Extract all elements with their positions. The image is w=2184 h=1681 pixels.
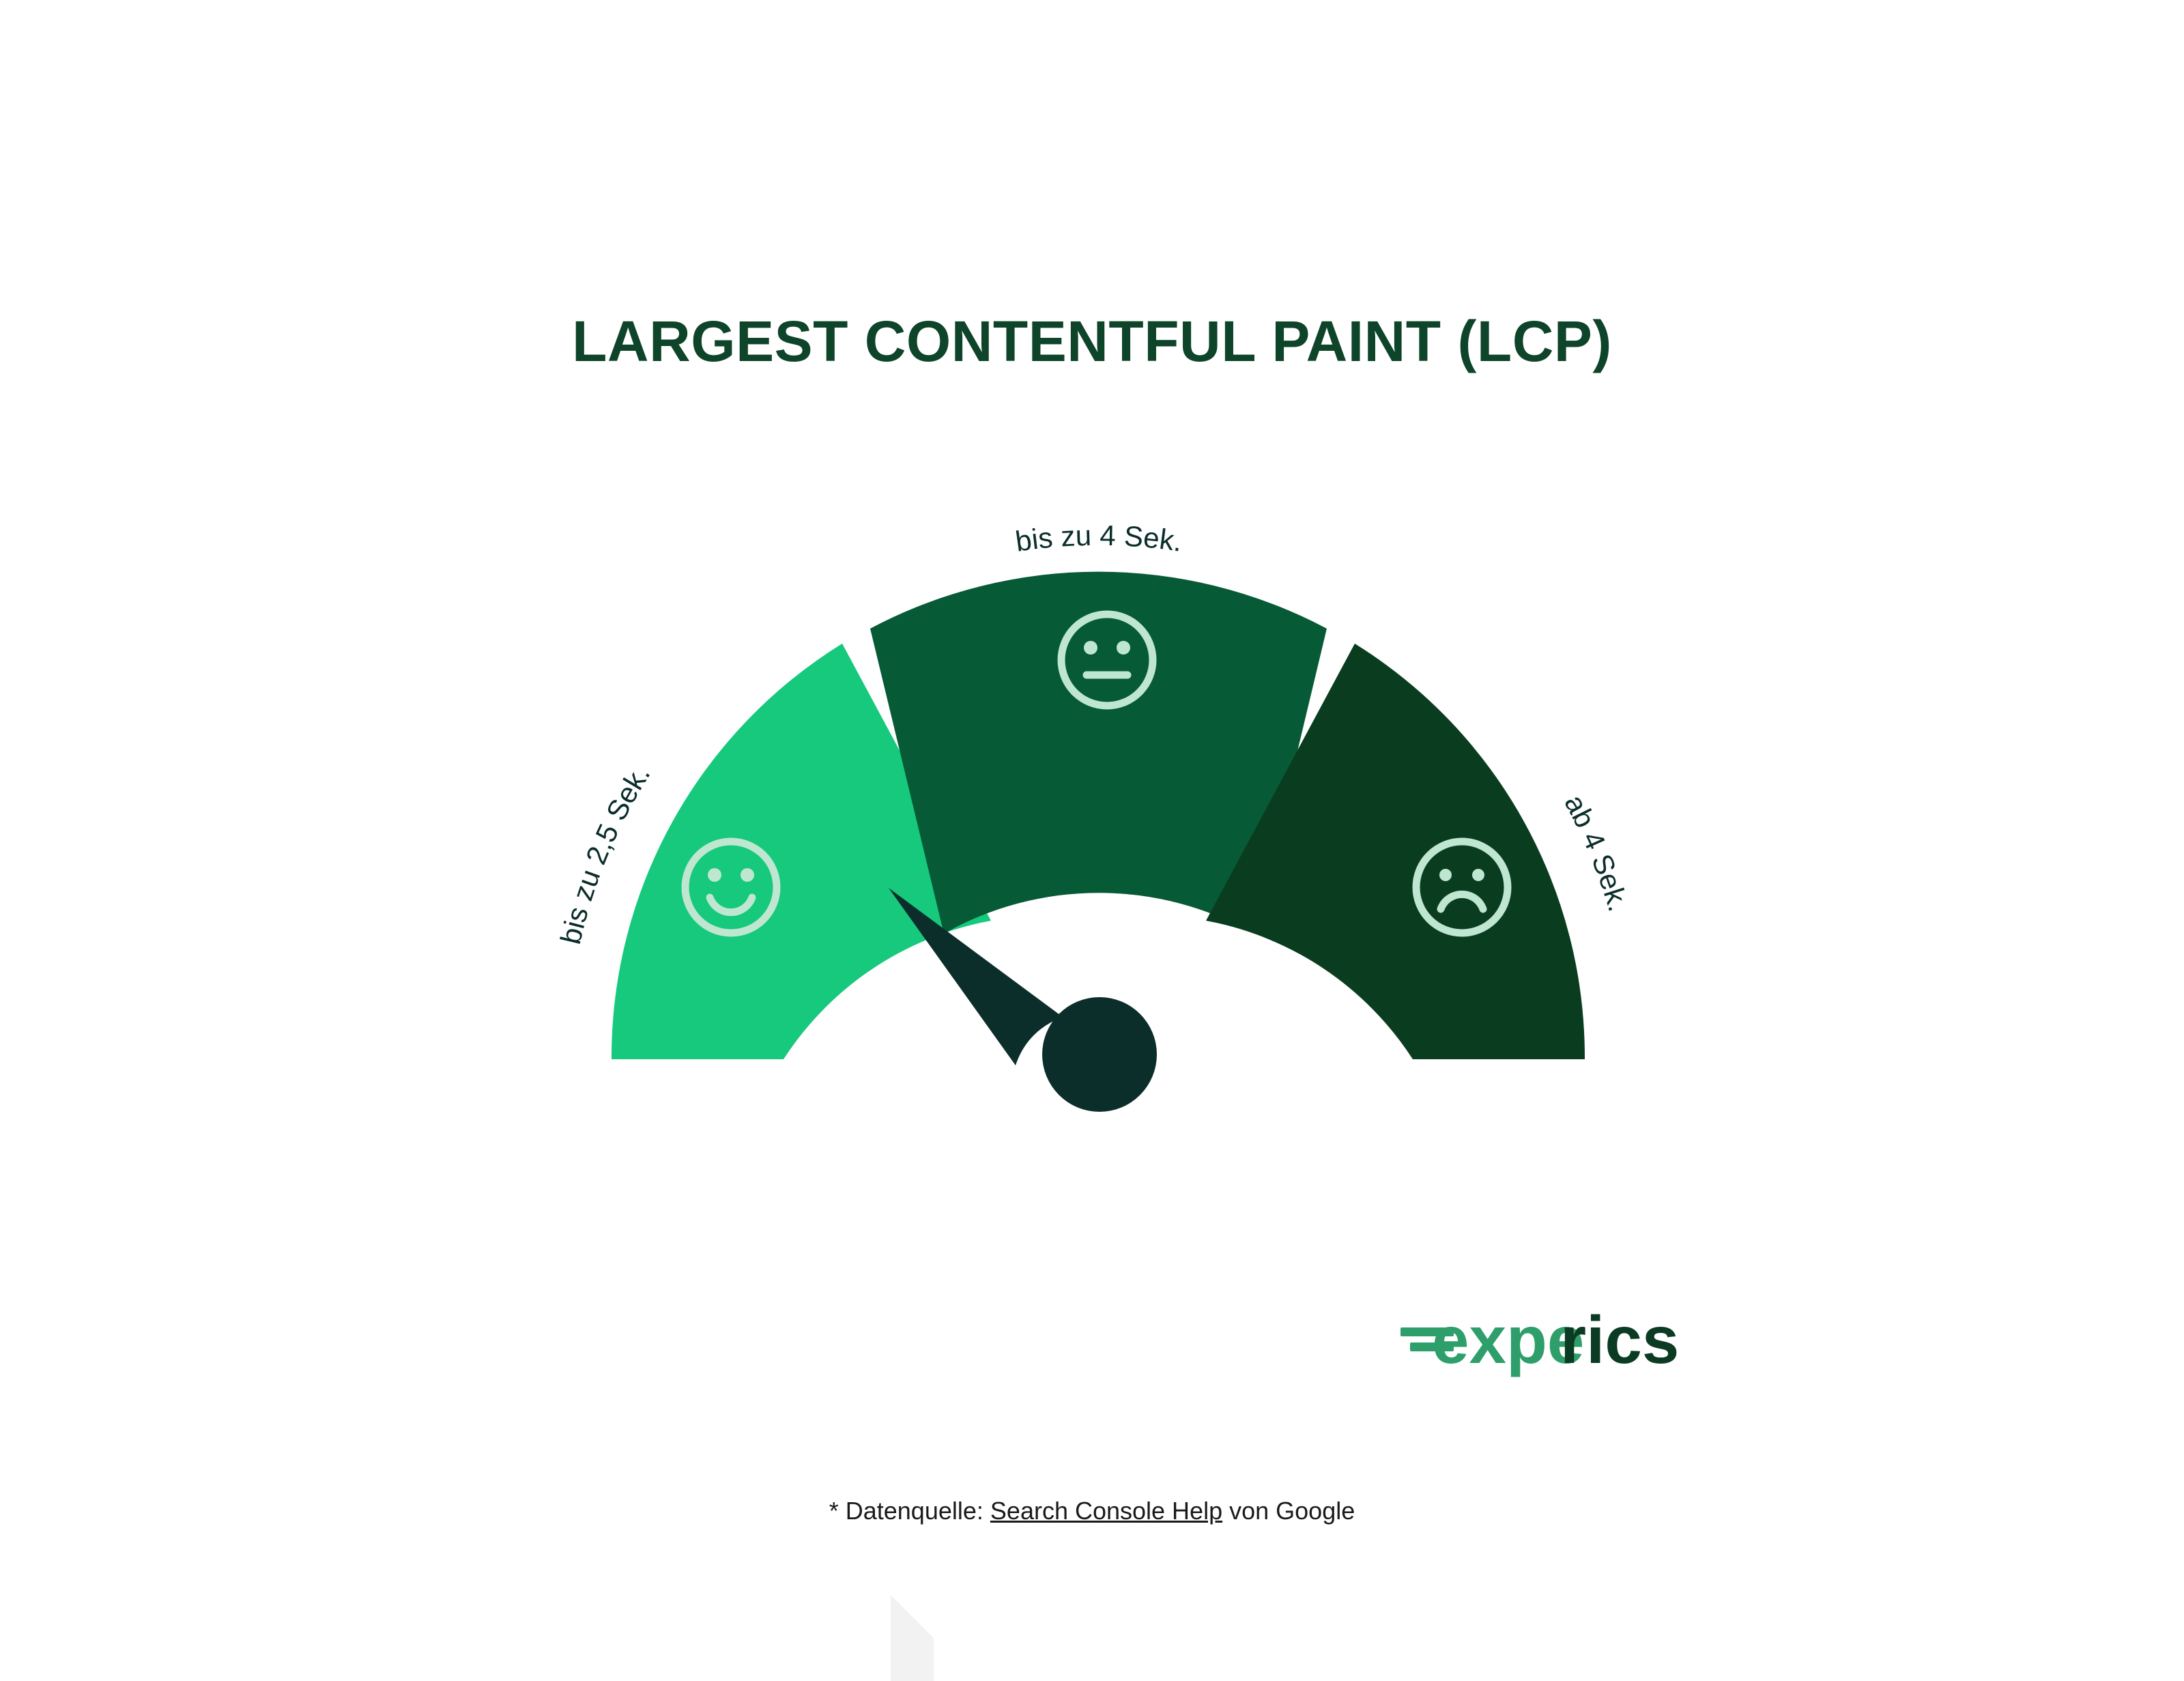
gauge-needle[interactable] [889, 888, 1063, 1065]
gauge-segment-good[interactable] [612, 644, 991, 1059]
gauge-label-needs-improvement: bis zu 4 Sek. [1014, 519, 1184, 558]
smiley-sad-icon [1416, 842, 1508, 933]
smiley-happy-icon [685, 842, 777, 933]
logo-text-dark: rics [1560, 1302, 1679, 1377]
gauge-label-good-text: bis zu 2,5 Sek. [554, 759, 657, 947]
gauge-segment-needs-improvement[interactable] [870, 572, 1327, 934]
gauge-segment-needs-improvement-arc [870, 572, 1327, 934]
gauge-needle-hub [1042, 997, 1157, 1112]
gauge-segment-poor[interactable] [1206, 644, 1585, 1059]
experics-logo[interactable]: expe rics [1399, 1300, 1699, 1379]
footnote-prefix: * Datenquelle: [829, 1497, 990, 1525]
poster-canvas: LARGEST CONTENTFUL PAINT (LCP) [0, 0, 2184, 1638]
footnote: * Datenquelle: Search Console Help von G… [0, 1497, 2184, 1525]
gauge-segment-poor-arc [1206, 644, 1585, 1059]
gauge-segment-good-arc [612, 644, 991, 1059]
gauge-label-poor-text: ab 4 Sek. [1558, 789, 1635, 915]
gauge-label-needs-improvement-text: bis zu 4 Sek. [1014, 519, 1184, 558]
smiley-neutral-icon [1061, 614, 1153, 706]
corner-artifact [891, 1595, 934, 1681]
source-link[interactable]: Search Console Help [990, 1497, 1222, 1525]
page-title: LARGEST CONTENTFUL PAINT (LCP) [0, 308, 2184, 375]
gauge-label-good: bis zu 2,5 Sek. [554, 759, 657, 947]
gauge-needle-pointer [889, 888, 1063, 1065]
footnote-suffix: von Google [1222, 1497, 1355, 1525]
gauge-chart: bis zu 2,5 Sek. bis zu 4 Sek. ab 4 Sek. [0, 0, 2184, 1638]
gauge-label-poor: ab 4 Sek. [1558, 789, 1635, 915]
